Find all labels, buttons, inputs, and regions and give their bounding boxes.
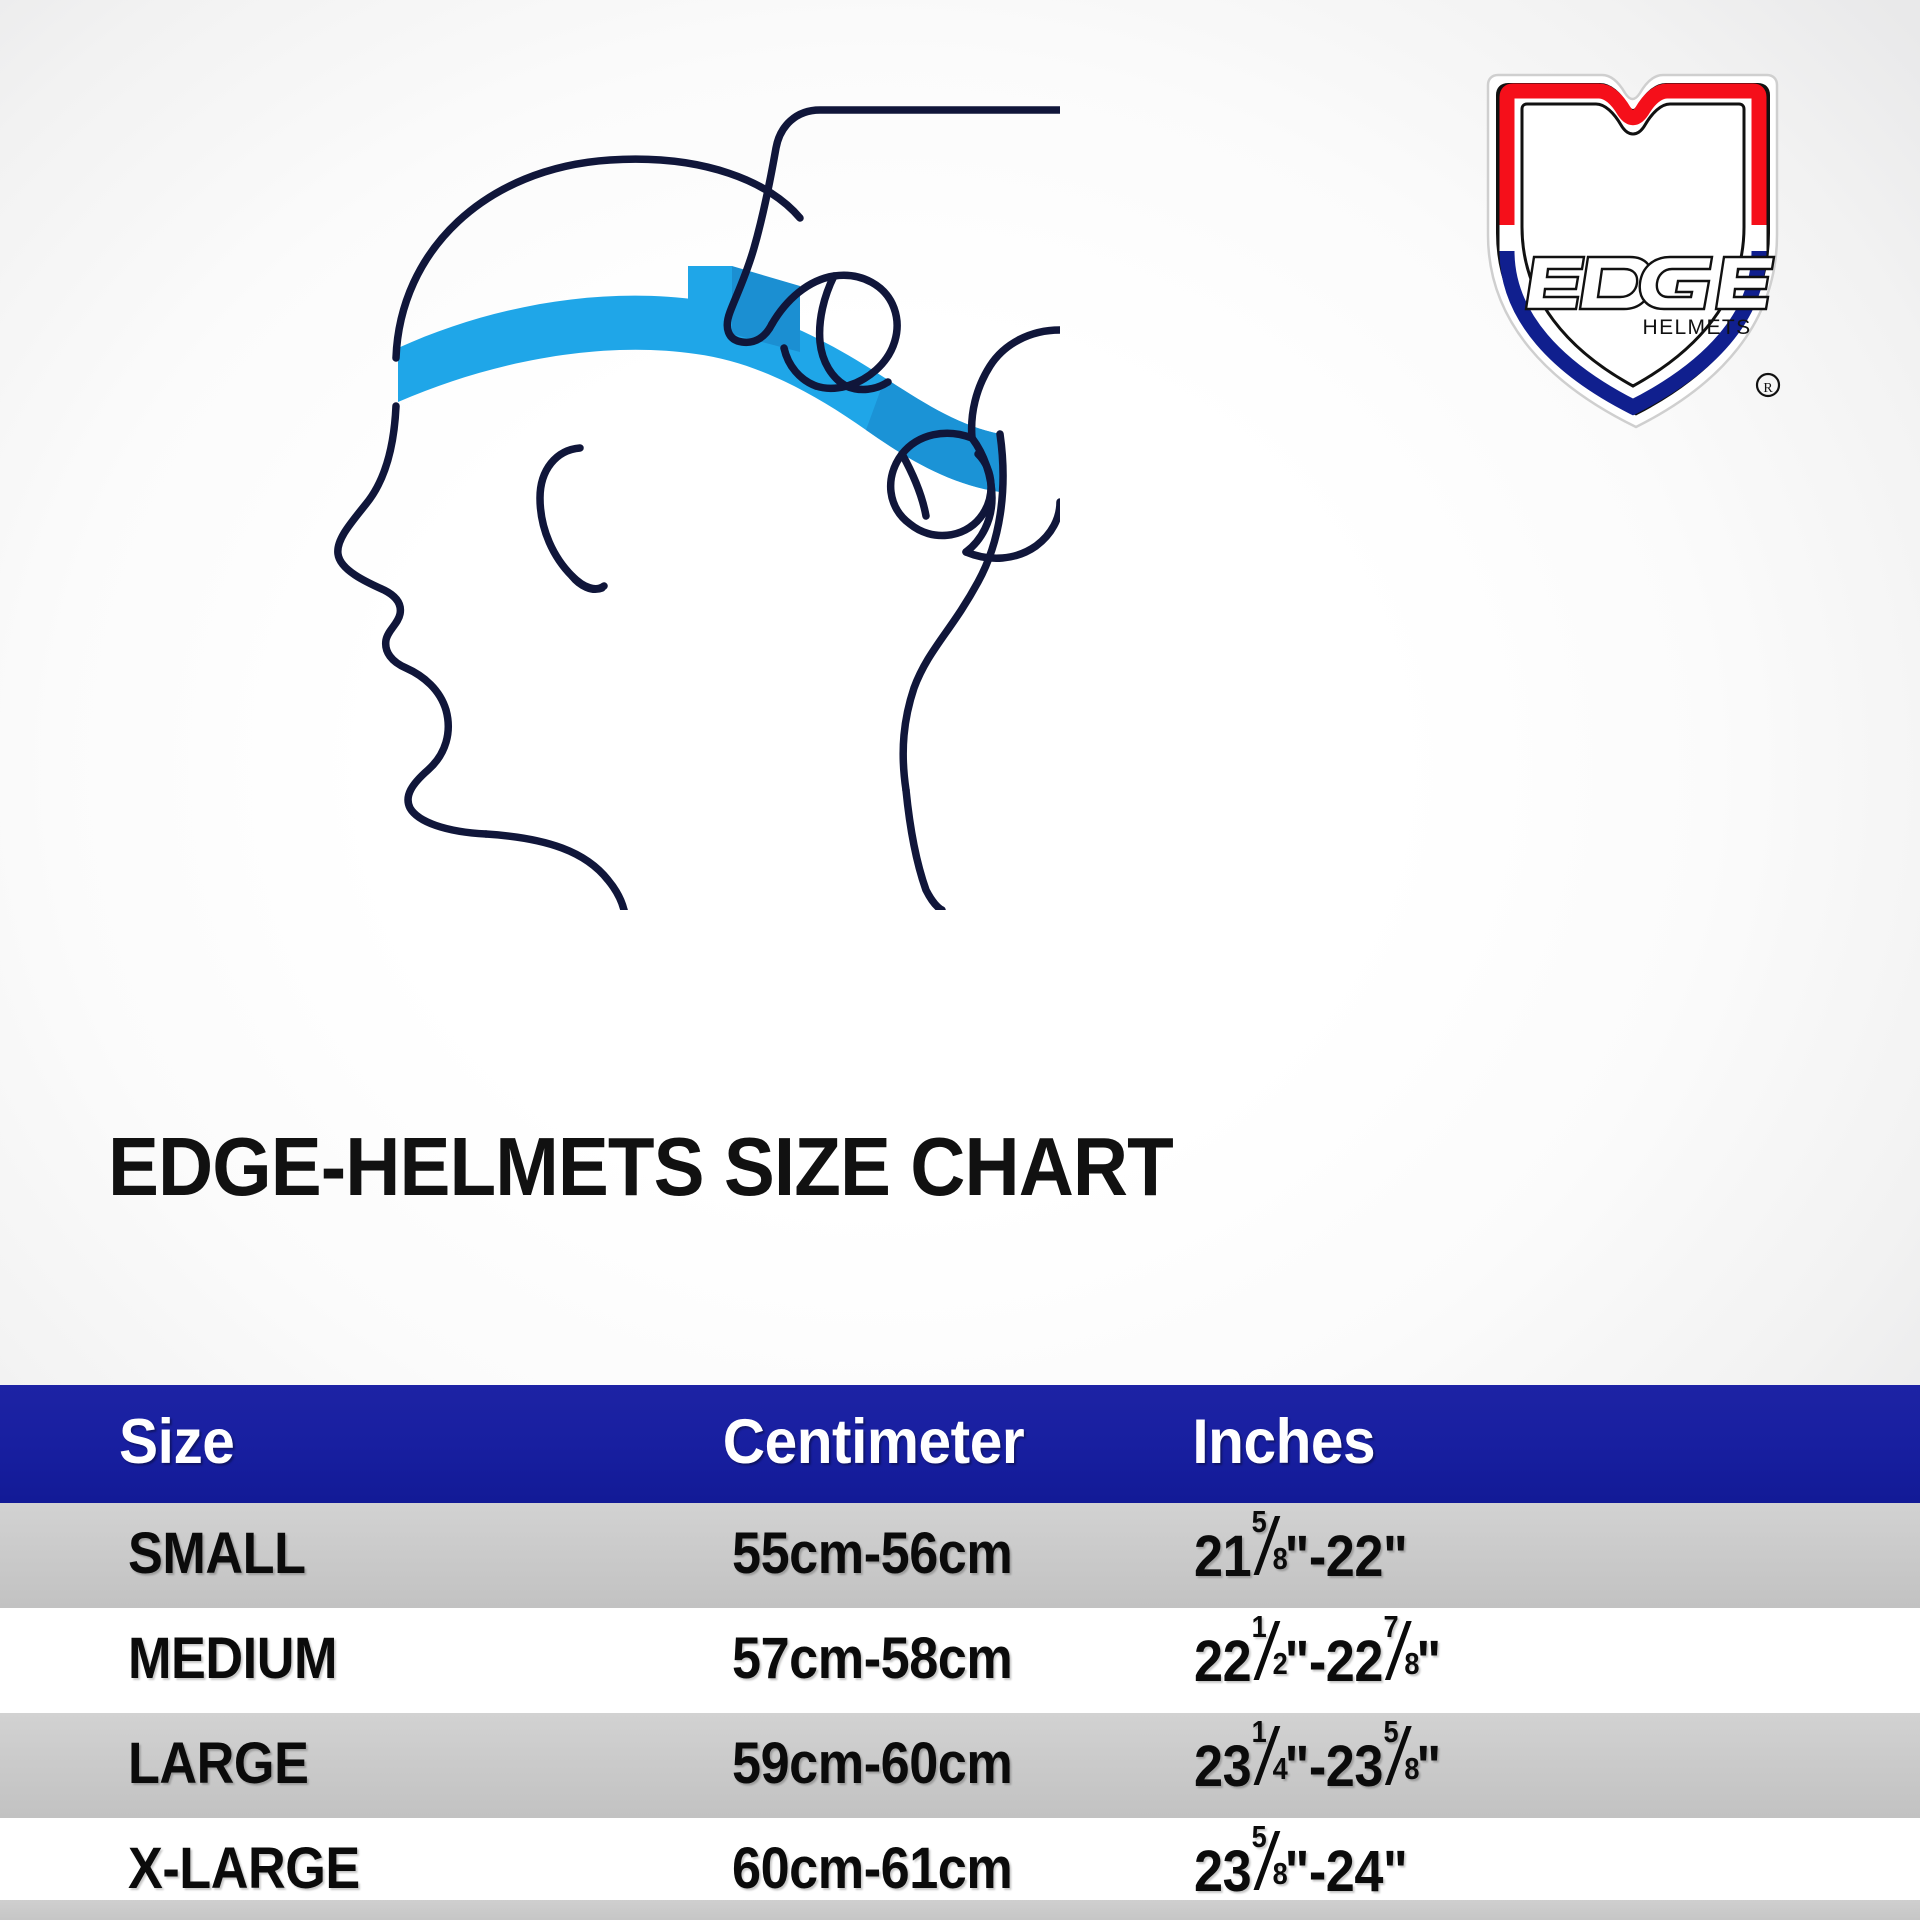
column-header-size: Size [0,1385,558,1503]
cell-inches: 2314"-2358" [1170,1713,1920,1818]
svg-text:R: R [1763,381,1773,396]
cell-size: MEDIUM [0,1608,600,1713]
fraction: 12 [1252,1623,1284,1681]
cell-inches: 2158"-22" [1170,1503,1920,1608]
edge-helmets-logo: HELMETS R [1470,55,1800,435]
shield-outer [1488,75,1777,427]
page-title: EDGE-HELMETS SIZE CHART [108,1125,1173,1208]
table-bottom-strip [0,1900,1920,1920]
cell-inches: 2212"-2278" [1170,1608,1920,1713]
cell-centimeter: 57cm-58cm [600,1608,1170,1713]
fraction: 14 [1252,1728,1284,1786]
logo-wordmark [1526,257,1774,309]
fraction: 58 [1252,1518,1284,1576]
table-header-row: Size Centimeter Inches [0,1385,1920,1503]
table-row: SMALL 55cm-56cm 2158"-22" [0,1503,1920,1608]
column-header-centimeter: Centimeter [600,1385,1130,1503]
cell-centimeter: 59cm-60cm [600,1713,1170,1818]
fraction: 78 [1383,1623,1415,1681]
table-row: MEDIUM 57cm-58cm 2212"-2278" [0,1608,1920,1713]
table-header: Size Centimeter Inches [0,1385,1920,1503]
cell-centimeter: 55cm-56cm [600,1503,1170,1608]
cell-size: SMALL [0,1503,600,1608]
cell-size: LARGE [0,1713,600,1818]
table-row: LARGE 59cm-60cm 2314"-2358" [0,1713,1920,1818]
table-body: SMALL 55cm-56cm 2158"-22" MEDIUM 57cm-58… [0,1503,1920,1920]
logo-subtext: HELMETS [1643,316,1752,339]
size-chart-table: Size Centimeter Inches SMALL 55cm-56cm 2… [0,1385,1920,1920]
head-outline [338,159,1003,910]
lower-hand-icon [891,330,1060,558]
size-chart-page: HELMETS R EDGE-HELMETS SIZE CHART Size C… [0,0,1920,1920]
column-header-inches: Inches [1170,1385,1868,1503]
fraction: 58 [1252,1833,1284,1891]
head-measurement-illustration [300,90,1060,910]
measuring-tape-icon [398,266,1000,492]
fraction: 58 [1383,1728,1415,1786]
registered-trademark-icon: R [1757,374,1779,396]
